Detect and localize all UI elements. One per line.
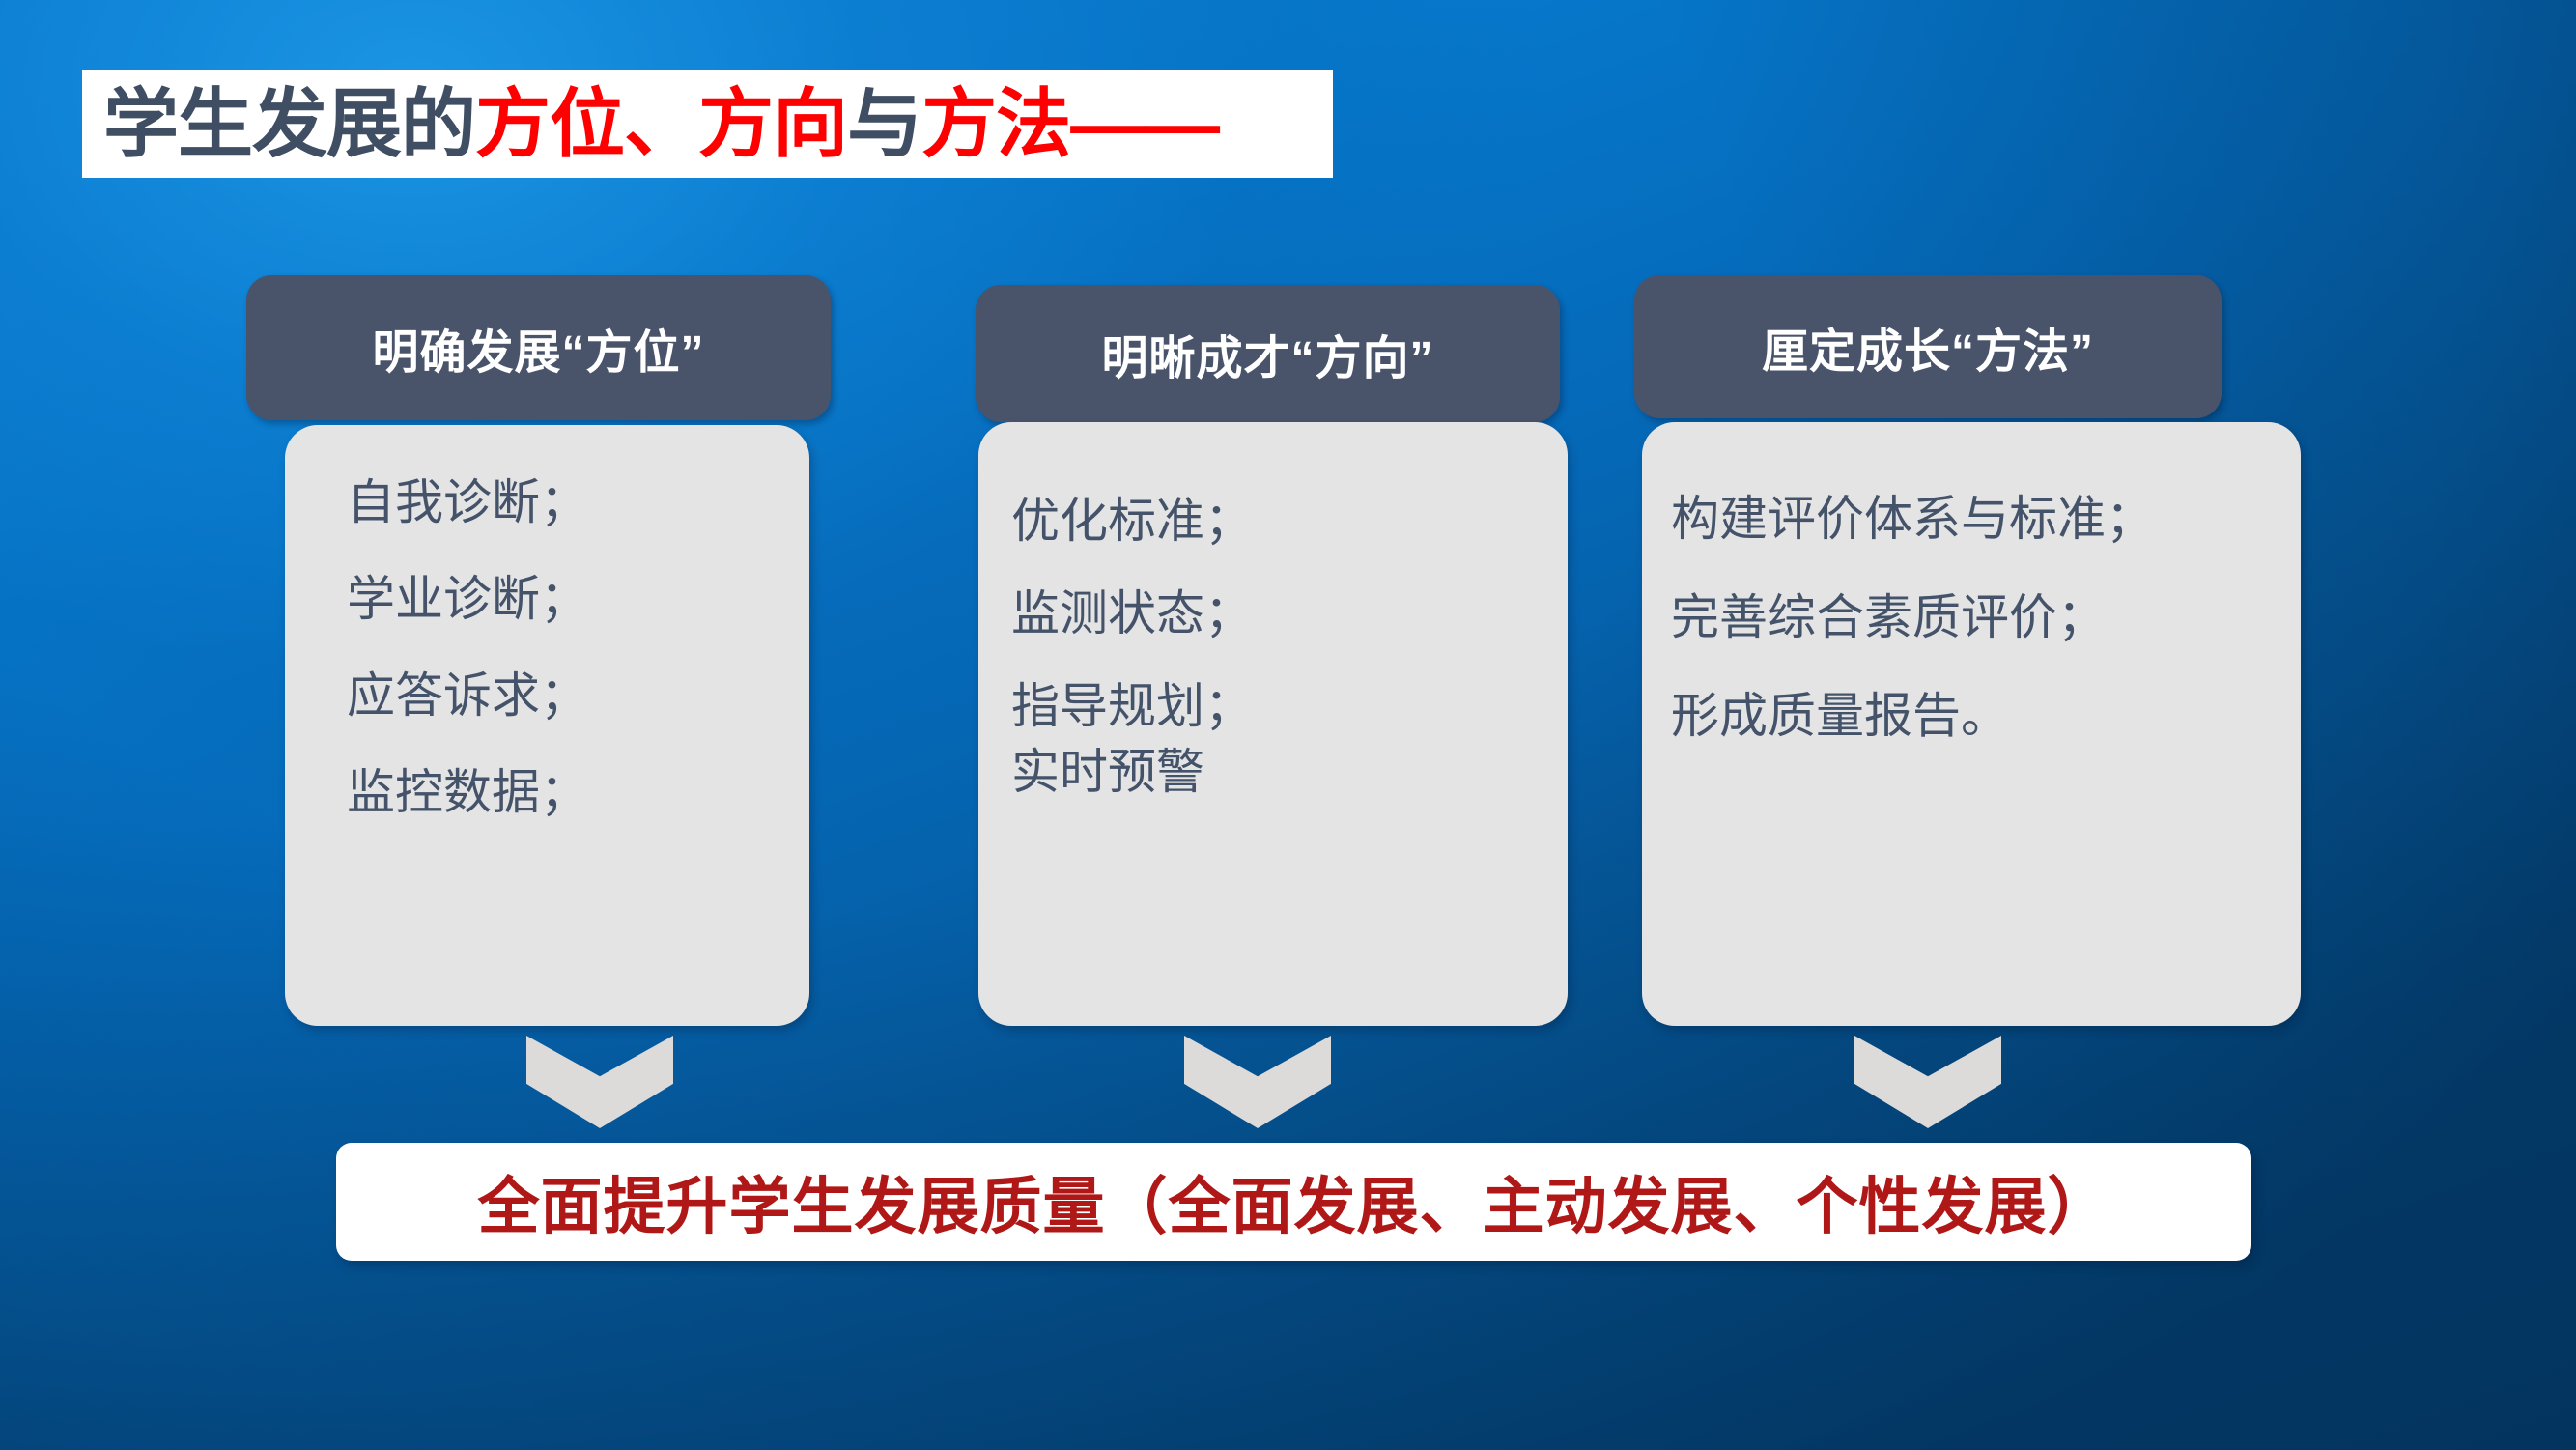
slide-canvas: 学生发展的方位、方向与方法—— 明确发展“方位” 自我诊断； 学业诊断； 应答诉… [0, 0, 2576, 1450]
list-item: 学业诊断； [347, 566, 777, 632]
column-header-1-label: 明确发展“方位” [372, 314, 704, 382]
list-item: 监测状态； [1011, 581, 1535, 646]
summary-banner: 全面提升学生发展质量（全面发展、主动发展、个性发展） [336, 1143, 2251, 1261]
title-segment-1: 学生发展的 [103, 81, 475, 166]
page-title: 学生发展的方位、方向与方法—— [103, 86, 1219, 161]
list-item: 优化标准； [1011, 488, 1535, 554]
column-card-3: 构建评价体系与标准； 完善综合素质评价； 形成质量报告。 [1642, 422, 2301, 1026]
column-header-1[interactable]: 明确发展“方位” [246, 275, 831, 420]
title-segment-2: 方位、 [475, 81, 698, 166]
list-item: 完善综合素质评价； [1671, 584, 2268, 650]
list-item: 形成质量报告。 [1671, 683, 2268, 749]
column-header-3-label: 厘定成长“方法” [1762, 313, 2094, 381]
title-segment-3: 方向 [698, 81, 847, 166]
column-header-2-label: 明晰成才“方向” [1101, 320, 1433, 387]
column-header-2[interactable]: 明晰成才“方向” [976, 285, 1560, 422]
summary-banner-label: 全面提升学生发展质量（全面发展、主动发展、个性发展） [478, 1157, 2110, 1246]
list-item: 实时预警 [1011, 739, 1535, 805]
list-item: 监控数据； [347, 759, 777, 825]
slide-title-box: 学生发展的方位、方向与方法—— [82, 70, 1333, 178]
list-item: 自我诊断； [347, 469, 777, 535]
column-card-1: 自我诊断； 学业诊断； 应答诉求； 监控数据； [285, 425, 809, 1026]
list-item: 指导规划； [1011, 673, 1535, 739]
list-item: 应答诉求； [347, 663, 777, 728]
title-segment-5: 方法—— [921, 81, 1219, 166]
column-header-3[interactable]: 厘定成长“方法” [1634, 275, 2222, 418]
title-segment-4: 与 [847, 81, 921, 166]
column-card-2: 优化标准； 监测状态； 指导规划； 实时预警 [978, 422, 1568, 1026]
list-item: 构建评价体系与标准； [1671, 486, 2268, 552]
